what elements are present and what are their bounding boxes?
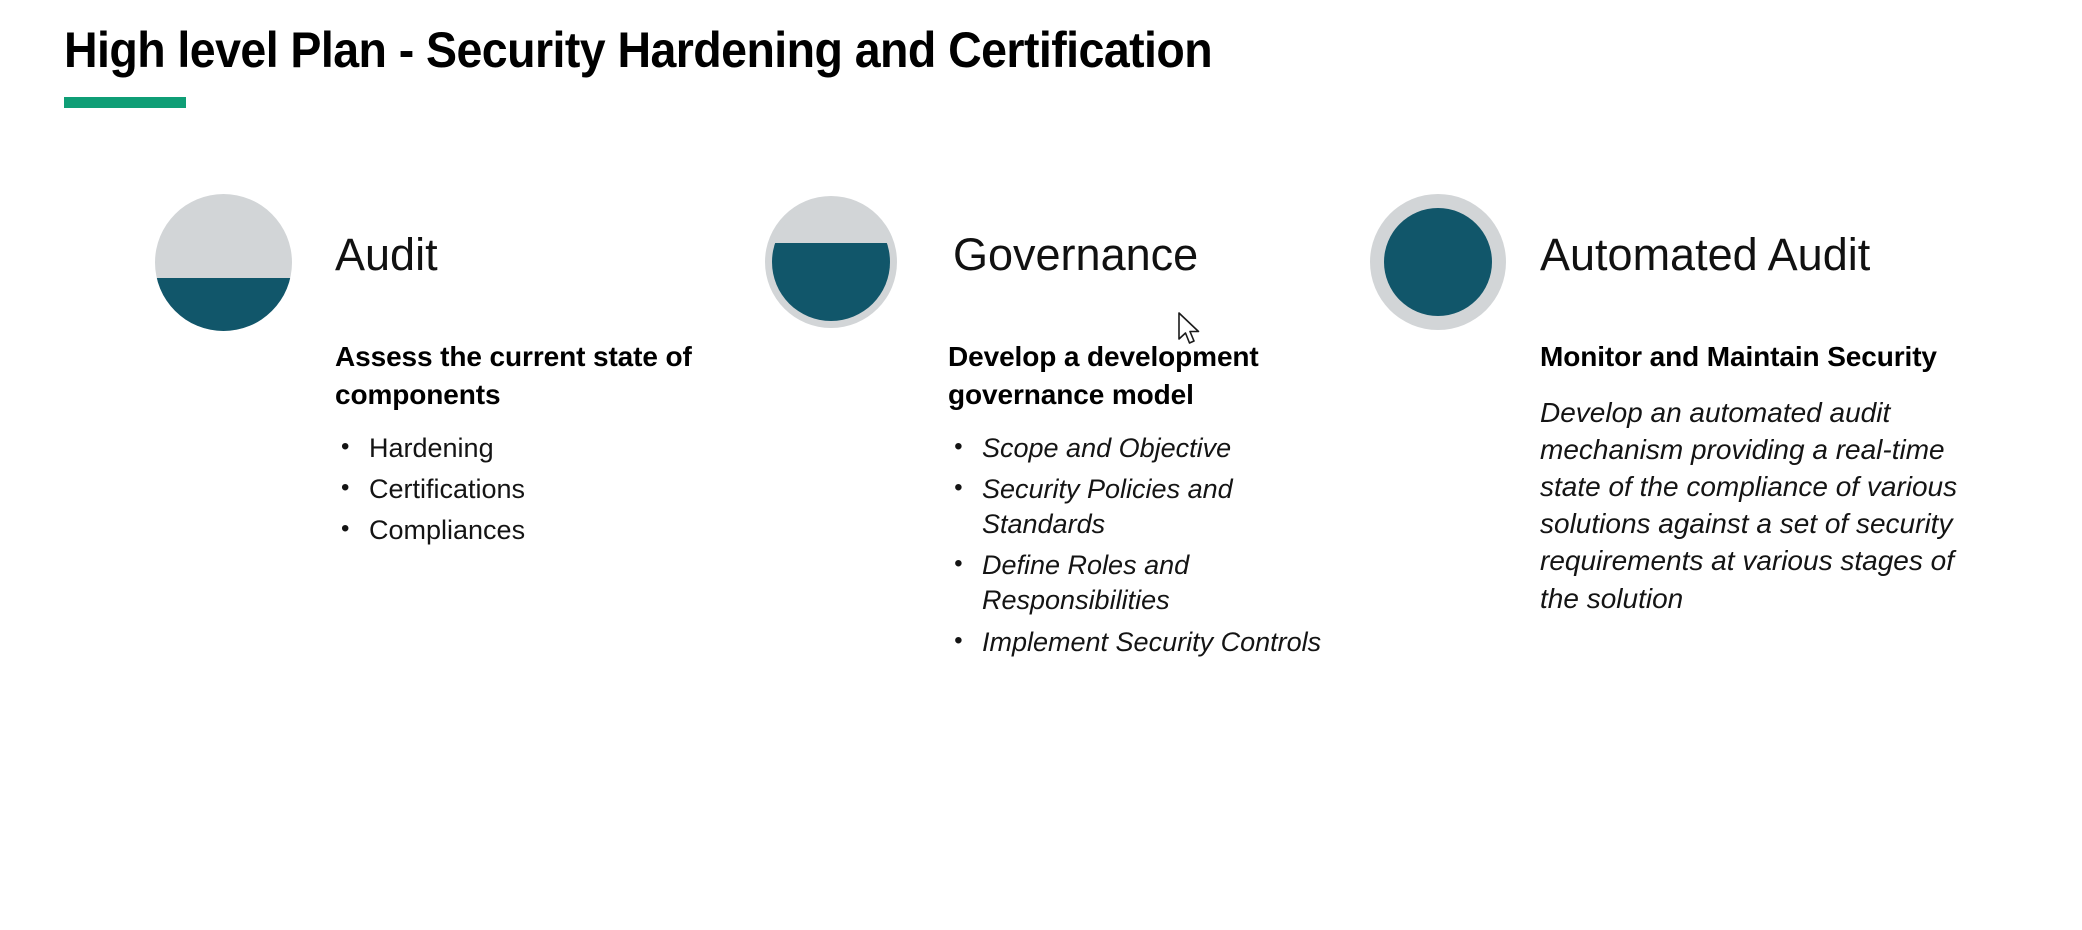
column-governance-lead: Develop a development governance model — [948, 338, 1348, 413]
column-audit: Audit Assess the current state of compon… — [155, 186, 755, 336]
column-automated-audit: Automated Audit Monitor and Maintain Sec… — [1367, 186, 1987, 336]
column-audit-lead: Assess the current state of components — [335, 338, 755, 413]
circle-inner — [1384, 208, 1492, 316]
page-title: High level Plan - Security Hardening and… — [64, 22, 1645, 78]
circle-two-thirds-filled-icon — [765, 196, 897, 328]
circle-fully-filled-icon — [1370, 194, 1506, 330]
list-item: Security Policies and Standards — [948, 472, 1348, 542]
circle-inner — [772, 203, 890, 321]
column-automated-audit-header: Automated Audit — [1367, 186, 1987, 336]
column-automated-audit-lead: Monitor and Maintain Security — [1540, 338, 1960, 376]
title-block: High level Plan - Security Hardening and… — [64, 22, 1764, 108]
list-item: Implement Security Controls — [948, 625, 1348, 660]
column-governance: Governance Develop a development governa… — [763, 186, 1363, 336]
column-governance-body: Develop a development governance model S… — [948, 338, 1348, 666]
column-automated-audit-body: Monitor and Maintain Security Develop an… — [1540, 338, 1960, 617]
column-governance-bullet-list: Scope and Objective Security Policies an… — [948, 431, 1348, 660]
title-accent-rule — [64, 97, 186, 108]
column-automated-audit-paragraph: Develop an automated audit mechanism pro… — [1540, 394, 1960, 617]
column-automated-audit-heading: Automated Audit — [1540, 230, 1870, 280]
slide-canvas: High level Plan - Security Hardening and… — [0, 0, 2082, 930]
list-item: Scope and Objective — [948, 431, 1348, 466]
column-audit-header: Audit — [155, 186, 755, 336]
columns-container: Audit Assess the current state of compon… — [0, 186, 2082, 806]
circle-quarter-filled-icon — [155, 194, 292, 331]
list-item: Certifications — [335, 472, 755, 507]
column-audit-heading: Audit — [335, 230, 438, 280]
circle-fill — [772, 243, 890, 321]
circle-fill — [155, 278, 292, 331]
column-governance-heading: Governance — [953, 230, 1198, 280]
list-item: Define Roles and Responsibilities — [948, 548, 1348, 618]
column-audit-body: Assess the current state of components H… — [335, 338, 755, 554]
column-governance-header: Governance — [763, 186, 1363, 336]
list-item: Compliances — [335, 513, 755, 548]
list-item: Hardening — [335, 431, 755, 466]
column-audit-bullet-list: Hardening Certifications Compliances — [335, 431, 755, 548]
